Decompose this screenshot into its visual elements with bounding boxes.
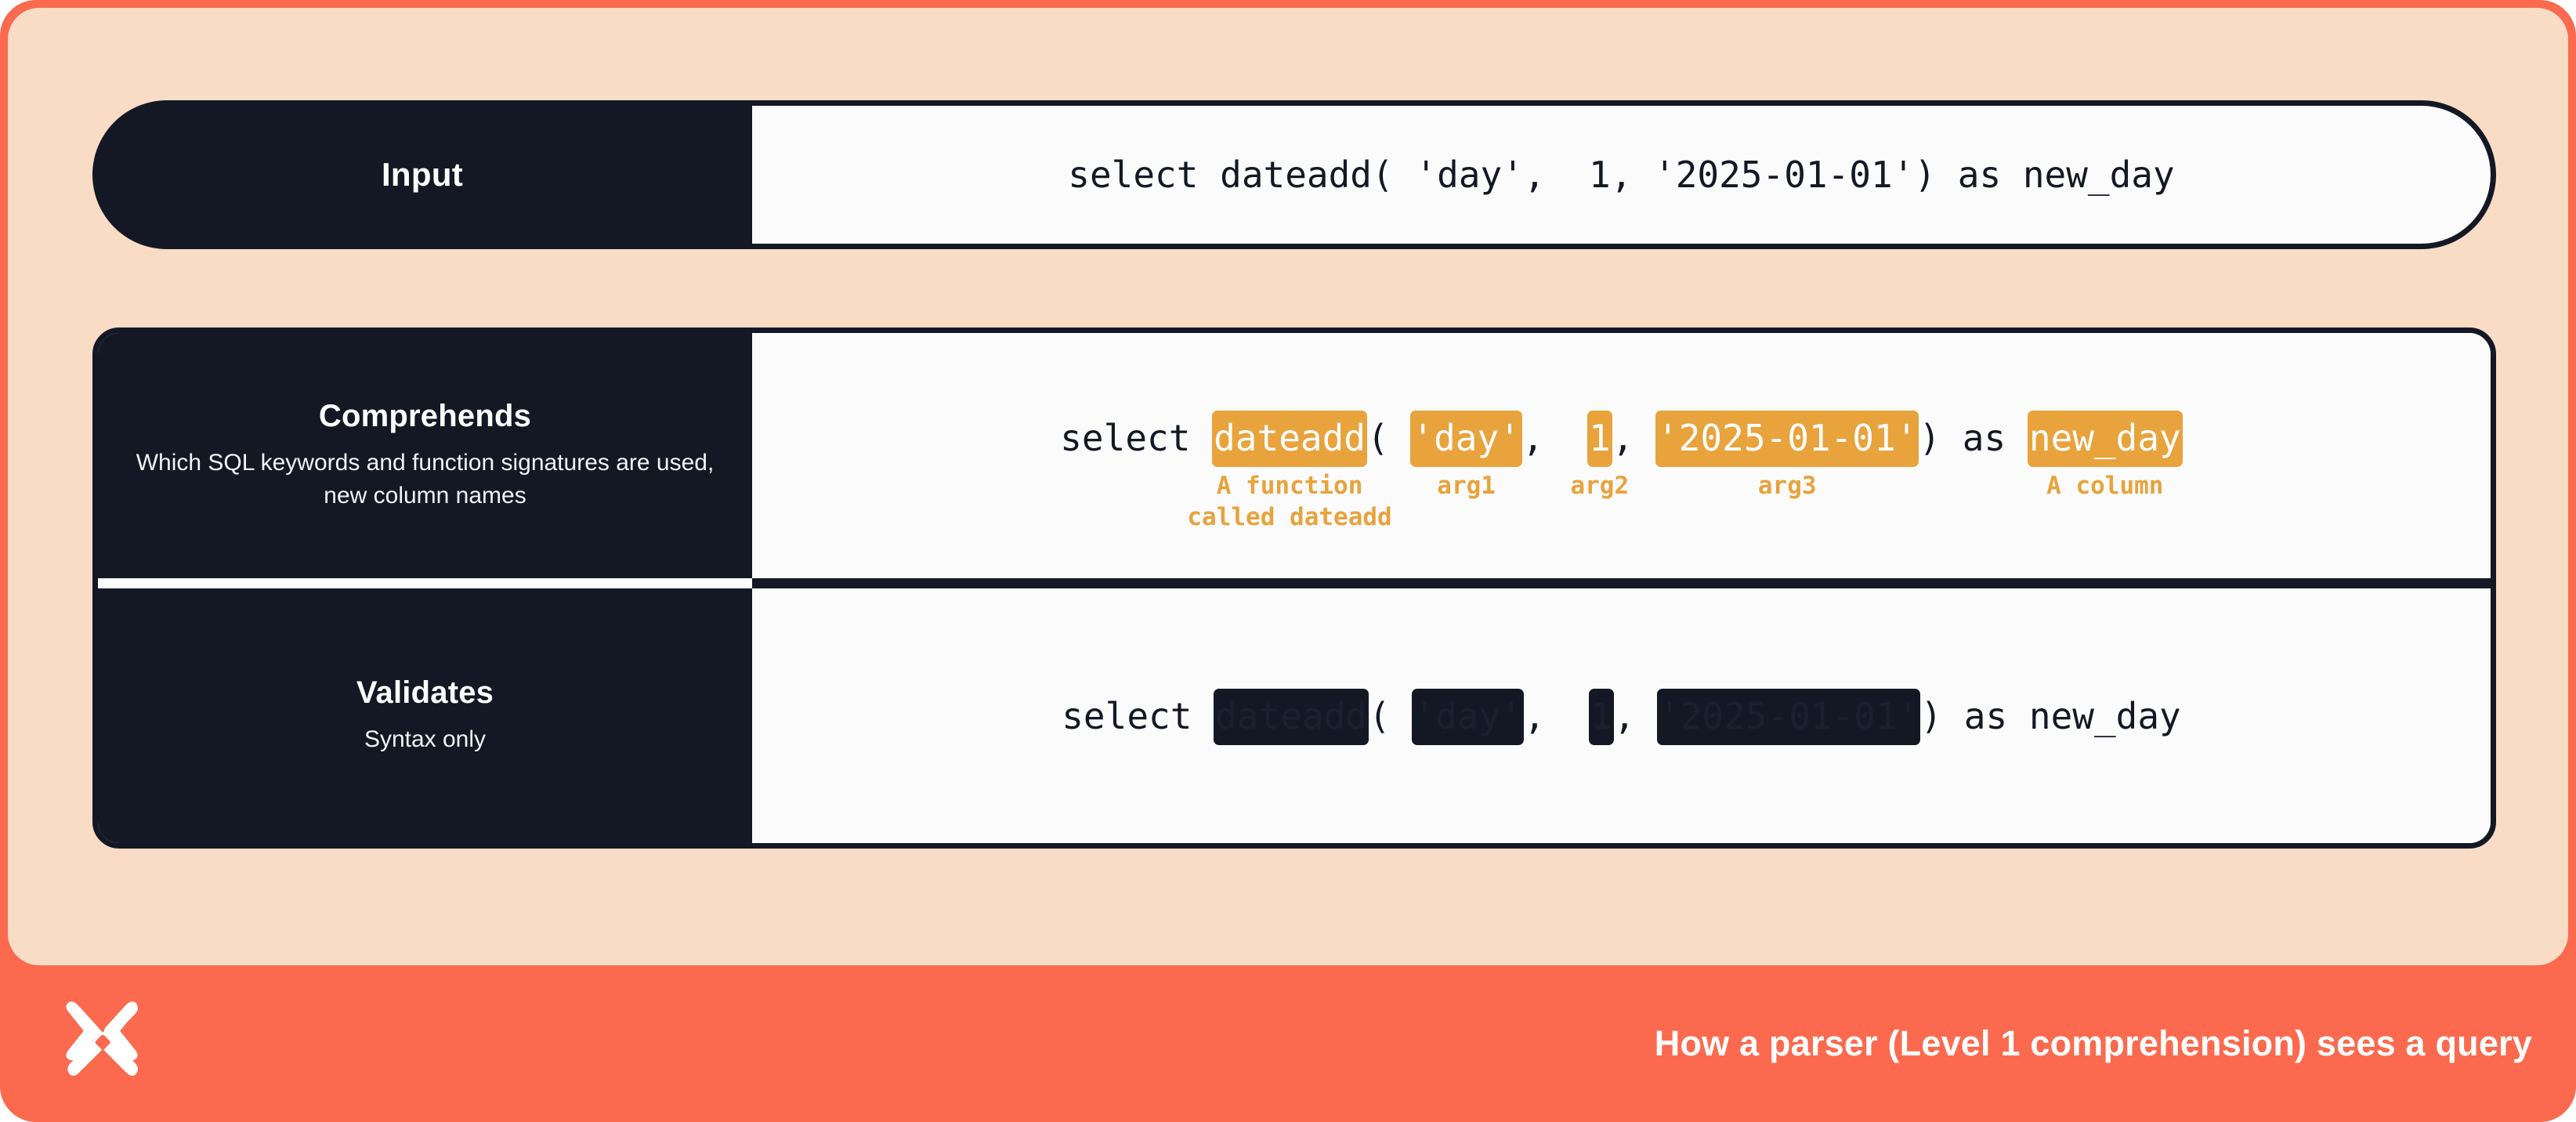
redacted-chip-arg3: '2025-01-01': [1657, 689, 1920, 745]
code-seg-new-day: new_day: [2029, 695, 2181, 737]
footer-bar: How a parser (Level 1 comprehension) see…: [0, 965, 2576, 1122]
annotation-column: A column: [2046, 470, 2163, 502]
code-seg-comma1: ,: [1522, 417, 1587, 459]
code-seg-open-paren: (: [1369, 695, 1412, 737]
poster-root: Input select dateadd( 'day', 1, '2025-01…: [0, 0, 2576, 1122]
redacted-chip-arg2: 1: [1589, 689, 1614, 745]
validates-row: Validates Syntax only select dateadd( 'd…: [98, 588, 2491, 843]
input-label-text: Input: [382, 156, 463, 194]
row-divider: [98, 578, 2491, 588]
code-seg-select: select: [1062, 695, 1214, 737]
validates-code-line: select dateadd( 'day', 1, '2025-01-01') …: [1062, 695, 2181, 737]
highlight-chip-arg3: '2025-01-01': [1655, 411, 1919, 467]
annotation-arg2: arg2: [1570, 470, 1629, 502]
validates-subtitle: Syntax only: [364, 723, 486, 756]
annotation-function: A function called dateadd: [1187, 470, 1391, 534]
code-seg-as: ) as: [1919, 417, 2027, 459]
code-seg-select: select: [1060, 417, 1212, 459]
highlight-chip-arg2: 1: [1587, 411, 1612, 467]
lower-card: Comprehends Which SQL keywords and funct…: [92, 328, 2496, 849]
divider-left-gap: [98, 578, 752, 588]
highlight-chip-arg1: 'day': [1410, 411, 1521, 467]
code-seg-comma1: ,: [1524, 695, 1589, 737]
code-seg-comma2: ,: [1614, 695, 1657, 737]
code-seg-as: ) as: [1920, 695, 2028, 737]
annotation-arg3: arg3: [1758, 470, 1817, 502]
peach-panel: Input select dateadd( 'day', 1, '2025-01…: [8, 8, 2568, 965]
comprehends-row: Comprehends Which SQL keywords and funct…: [98, 333, 2491, 578]
code-seg-comma2: ,: [1612, 417, 1655, 459]
input-row: Input select dateadd( 'day', 1, '2025-01…: [92, 100, 2496, 249]
highlight-chip-column: new_day: [2028, 411, 2183, 467]
divider-rule: [752, 578, 2491, 588]
redacted-chip-arg1: 'day': [1412, 689, 1523, 745]
validates-title: Validates: [356, 675, 494, 711]
input-row-label: Input: [92, 100, 752, 249]
comprehends-row-label: Comprehends Which SQL keywords and funct…: [98, 333, 752, 578]
annotation-arg1: arg1: [1437, 470, 1496, 502]
x-mark-logo-icon: [56, 998, 147, 1089]
validates-row-label: Validates Syntax only: [98, 588, 752, 843]
input-code-text: select dateadd( 'day', 1, '2025-01-01') …: [1068, 154, 2174, 196]
footer-caption: How a parser (Level 1 comprehension) see…: [1655, 1023, 2532, 1064]
code-seg-open-paren: (: [1367, 417, 1410, 459]
redacted-chip-function: dateadd: [1214, 689, 1369, 745]
comprehends-code-panel: select dateadd( 'day', 1, '2025-01-01') …: [752, 333, 2491, 578]
comprehends-title: Comprehends: [319, 399, 531, 434]
input-row-code-panel: select dateadd( 'day', 1, '2025-01-01') …: [752, 100, 2496, 249]
validates-code-panel: select dateadd( 'day', 1, '2025-01-01') …: [752, 588, 2491, 843]
highlight-chip-function: dateadd: [1212, 411, 1367, 467]
comprehends-code-line: select dateadd( 'day', 1, '2025-01-01') …: [1060, 417, 2183, 459]
comprehends-subtitle: Which SQL keywords and function signatur…: [118, 447, 732, 512]
